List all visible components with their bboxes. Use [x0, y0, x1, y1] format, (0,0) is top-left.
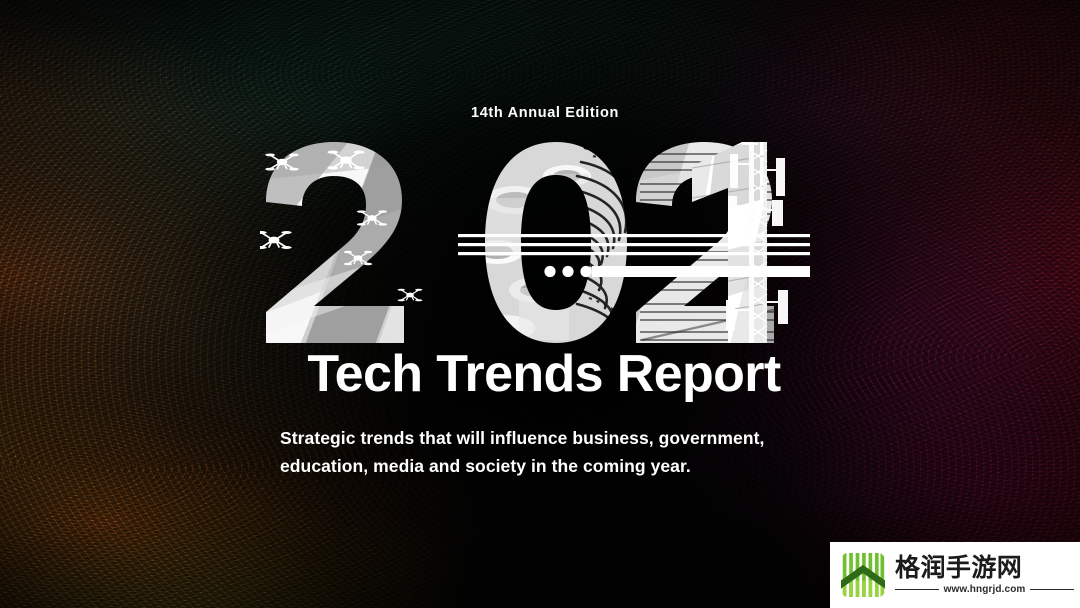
- striped-roof-logo-icon: [840, 552, 886, 598]
- dot-decorations: [544, 266, 591, 277]
- watermark-text: 格润手游网 www.hngrjd.com: [895, 556, 1074, 595]
- watermark-rule-left: [895, 589, 939, 590]
- watermark-brand: 格润手游网: [895, 556, 1074, 581]
- edition-eyebrow: 14th Annual Edition: [0, 105, 1080, 121]
- watermark-url: www.hngrjd.com: [944, 585, 1026, 595]
- report-cover-canvas: 14th Annual Edition: [0, 0, 1080, 608]
- year-2021-artwork: [260, 140, 820, 345]
- watermark-url-row: www.hngrjd.com: [895, 585, 1074, 595]
- subtitle: Strategic trends that will influence bus…: [280, 424, 800, 481]
- year-2021: [260, 140, 820, 345]
- page-title: Tech Trends Report: [0, 348, 1080, 400]
- subtitle-line-1: Strategic trends that will influence bus…: [280, 424, 800, 452]
- subtitle-line-2: education, media and society in the comi…: [280, 452, 800, 480]
- watermark: 格润手游网 www.hngrjd.com: [830, 542, 1080, 608]
- watermark-rule-right: [1030, 589, 1074, 590]
